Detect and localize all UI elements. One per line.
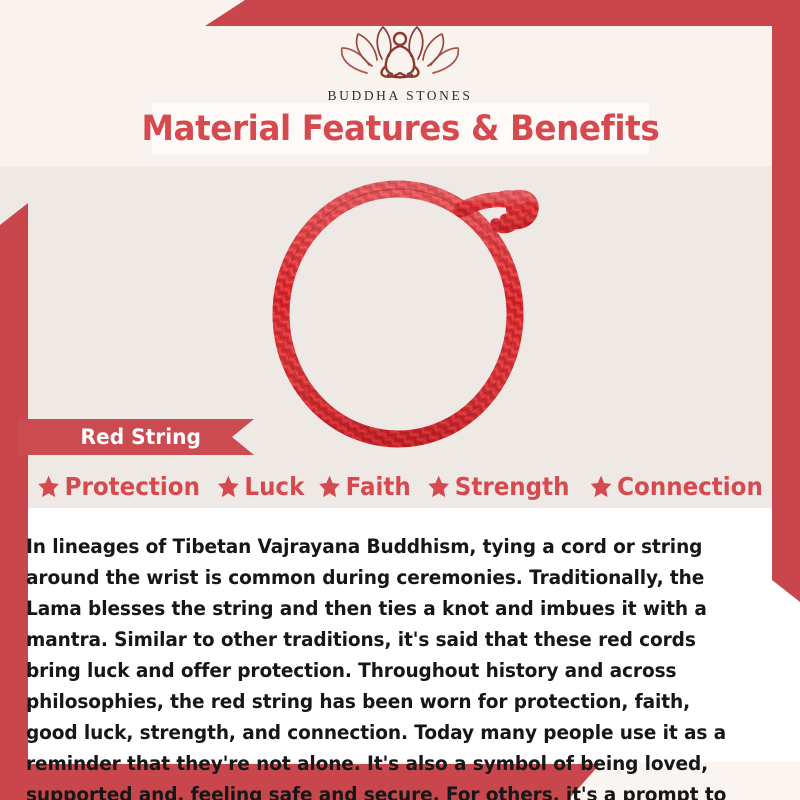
star-icon (217, 474, 240, 499)
star-icon (318, 474, 341, 499)
title-banner: Material Features & Benefits (152, 103, 649, 155)
product-label-ribbon: Red String (18, 419, 254, 455)
decorative-red-band-left (0, 203, 28, 800)
benefit-item: Luck (217, 472, 305, 501)
benefit-item: Protection (37, 472, 200, 501)
benefit-item: Faith (318, 472, 411, 501)
brand-logo: BUDDHA STONES (0, 18, 800, 104)
benefit-item: Strength (427, 472, 569, 501)
description-text: In lineages of Tibetan Vajrayana Buddhis… (26, 531, 740, 800)
benefit-label: Strength (455, 472, 570, 501)
brand-name: BUDDHA STONES (328, 88, 473, 104)
benefits-list: Protection Luck Faith (28, 466, 772, 506)
product-image (248, 162, 568, 462)
red-braided-string-bracelet-icon (248, 162, 568, 462)
benefit-item: Connection (589, 472, 762, 501)
lotus-meditation-logo-icon (330, 18, 470, 84)
page-title: Material Features & Benefits (142, 109, 660, 149)
star-icon (37, 474, 60, 499)
benefit-label: Protection (65, 472, 200, 501)
star-icon (589, 474, 612, 499)
infographic-page: BUDDHA STONES Material Features & Benefi… (0, 0, 800, 800)
product-label: Red String (81, 425, 201, 449)
star-icon (427, 474, 450, 499)
benefit-label: Faith (346, 472, 411, 501)
benefit-label: Connection (617, 472, 763, 501)
benefit-label: Luck (244, 472, 304, 501)
